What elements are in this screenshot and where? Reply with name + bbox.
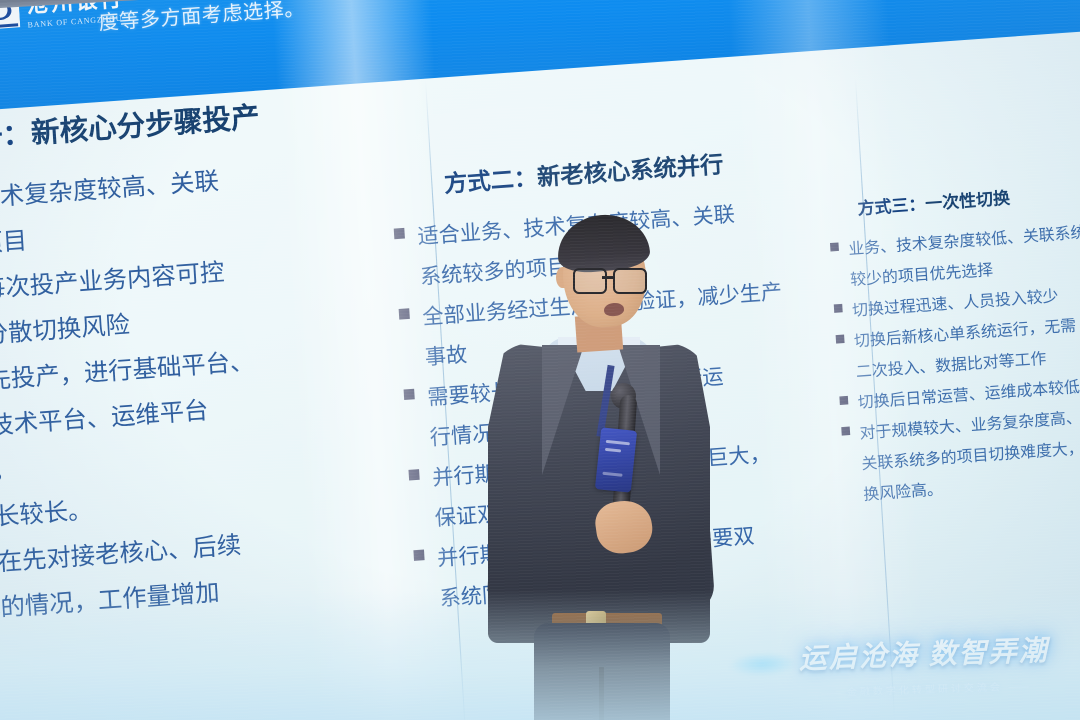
- speaker-badge: [595, 427, 637, 492]
- glasses-lens-left: [573, 268, 607, 294]
- column-2-heading-label: 方式二：: [443, 164, 538, 197]
- column-3-heading-label: 方式三：: [857, 196, 926, 219]
- event-watermark: 运启沧海 数智弄潮 —— 金融数字化转型研讨交流会 ——: [773, 628, 1075, 701]
- column-3-heading-title: 一次性切换: [925, 190, 1011, 214]
- column-1-heading-label: 方式一：: [0, 118, 32, 158]
- square-bullet-icon: [834, 304, 843, 313]
- glasses-lens-right: [613, 268, 647, 294]
- column-2-heading-title: 新老核心系统并行: [536, 151, 724, 191]
- list-item: 对于规模较大、业务复杂度高、 关联系统多的项目切换难度大，切 换风险高。: [841, 401, 1080, 512]
- slide-column-3: 方式三：一次性切换 业务、技术复杂度较低、关联系统 较少的项目优先选择 切换过程…: [827, 178, 1080, 512]
- watermark-glow: [728, 651, 799, 677]
- square-bullet-icon: [394, 228, 405, 239]
- dash-left: ——: [821, 688, 841, 700]
- conference-photo-stage: 切换方式的选择通常会根据实施银行的规模、业务复杂度、技术复杂度、关联系统数量、切…: [0, 0, 1080, 720]
- glasses-bridge: [602, 276, 615, 279]
- square-bullet-icon: [399, 308, 410, 319]
- square-bullet-icon: [836, 334, 845, 343]
- square-bullet-icon: [841, 426, 850, 435]
- badge-line: [602, 472, 622, 477]
- square-bullet-icon: [408, 469, 419, 480]
- square-bullet-icon: [413, 550, 424, 561]
- speaker-lapel-left: [542, 345, 584, 475]
- speaker-person: [470, 215, 730, 720]
- speaker-leg-split: [599, 667, 604, 720]
- badge-line: [605, 448, 621, 453]
- slide-intro-text: 切换方式的选择通常会根据实施银行的规模、业务复杂度、技术复杂度、关联系统数量、切…: [96, 0, 1080, 40]
- slide-column-1: 方式一：新核心分步骤投产 适合业务、技术复杂度较高、关联 系统较多的项目 拆分业…: [0, 87, 404, 642]
- column-1-heading-title: 新核心分步骤投产: [30, 101, 260, 149]
- dash-right: ——: [1008, 681, 1028, 693]
- speaker-glasses-icon: [573, 268, 649, 292]
- badge-line: [606, 440, 630, 445]
- list-item-text: 对于规模较大、业务复杂度高、 关联系统多的项目切换难度大，切 换风险高。: [859, 401, 1080, 511]
- square-bullet-icon: [404, 389, 415, 400]
- square-bullet-icon: [839, 396, 848, 405]
- square-bullet-icon: [830, 242, 839, 251]
